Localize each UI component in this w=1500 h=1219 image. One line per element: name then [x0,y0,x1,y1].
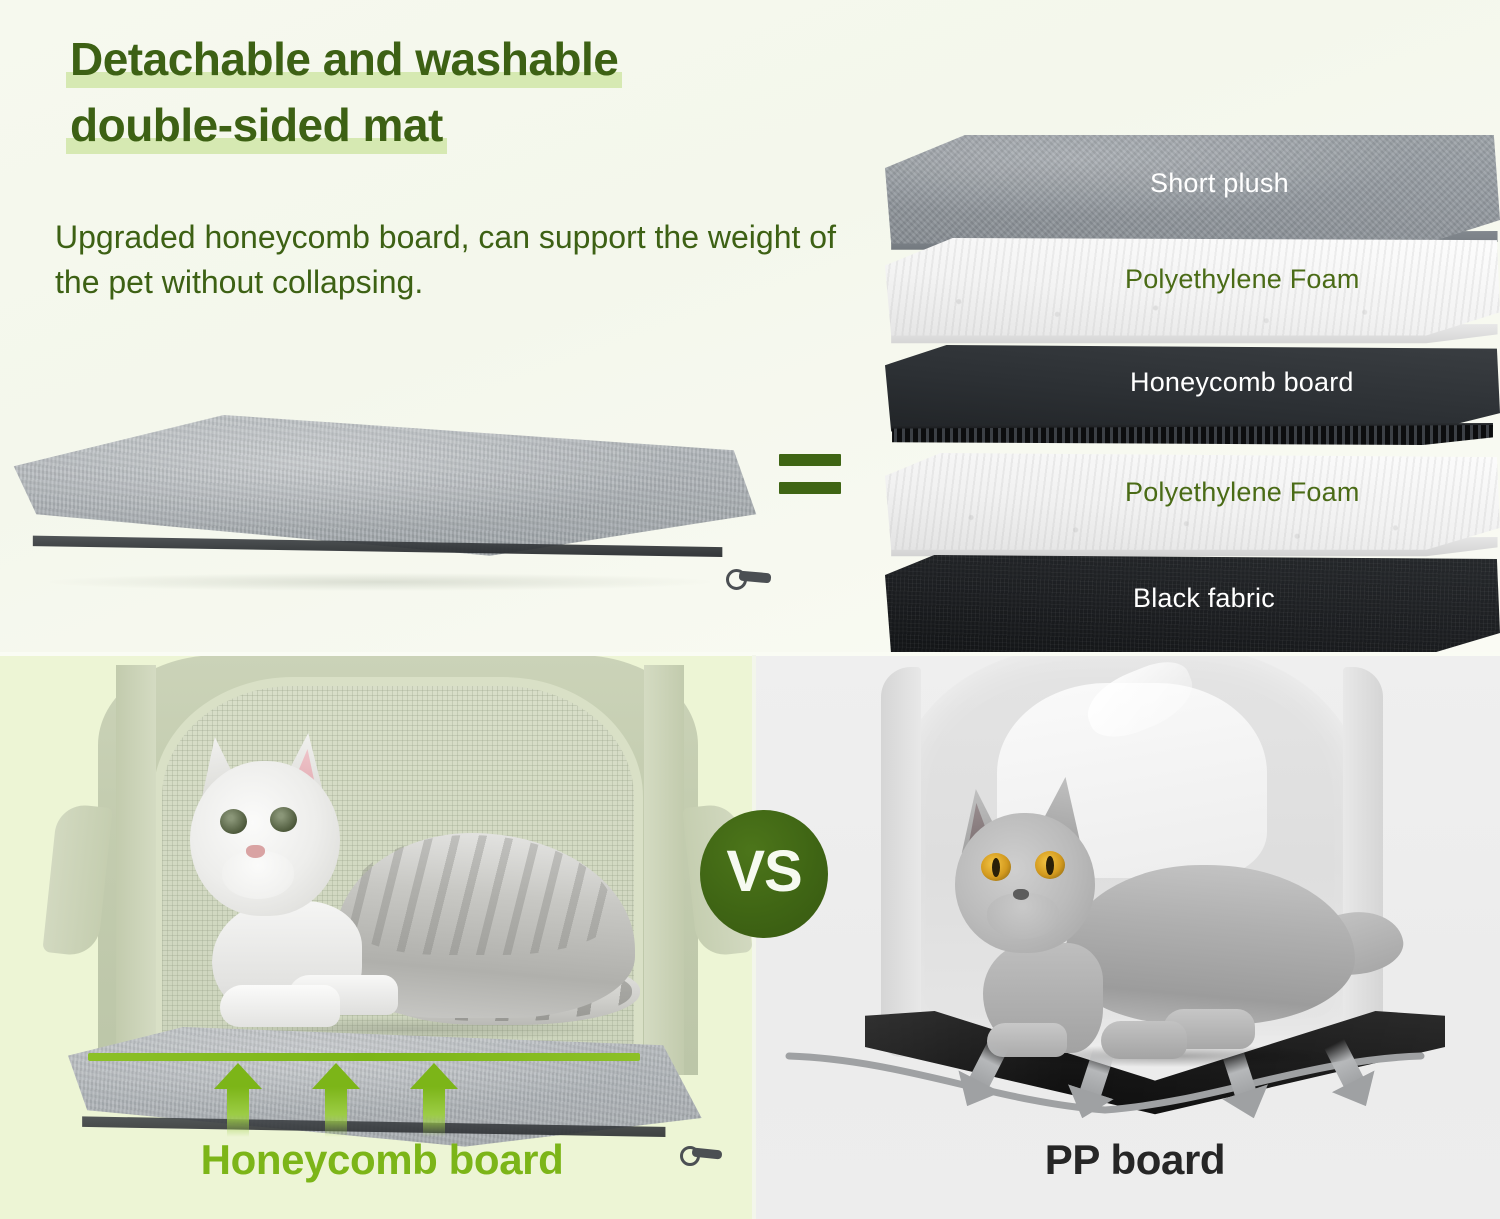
infographic-page: Detachable and washable double-sided mat… [0,0,1500,1219]
arrow-up-stem-1 [227,1087,249,1137]
layer-polyethylene-foam-top: Polyethylene Foam [885,238,1500,360]
cat-grey-blue [935,773,1395,1073]
comparison-panel-right [755,655,1500,1219]
caption-pp-board: PP board [855,1136,1415,1184]
support-arrow-up-1 [214,1063,262,1135]
equals-sign-icon [779,452,841,504]
mat-drop-shadow [50,573,710,591]
cat-silver-tabby [160,723,640,1053]
cat-left-eye-right [270,807,297,832]
cat-right-body [1065,865,1355,1025]
subheadline-text: Upgraded honeycomb board, can support th… [55,215,845,306]
headline-block: Detachable and washable double-sided mat [66,36,886,168]
arrow-up-stem-2 [325,1087,347,1137]
cat-left-muzzle [222,851,294,899]
headline-line-2: double-sided mat [66,102,447,154]
comparison-panel-left [0,655,755,1219]
vs-badge-label: VS [726,843,801,901]
support-arrow-up-2 [312,1063,360,1135]
cat-left-eye-left [220,809,247,834]
cat-right-pupil-right [1046,856,1054,875]
honeycomb-support-line [88,1053,640,1061]
layer-label-foam-top: Polyethylene Foam [1125,264,1360,295]
honeycomb-mat-zipper-pull-icon [680,1143,724,1167]
layer-label-foam-bottom: Polyethylene Foam [1125,477,1360,508]
panel-divider-horizontal [0,652,1500,656]
equals-bar-top [779,454,841,466]
layer-label-black-fabric: Black fabric [1133,583,1275,614]
cat-right-muzzle [987,893,1059,939]
product-mat-photo [10,415,760,605]
support-arrow-up-3 [410,1063,458,1135]
layer-label-honeycomb-board: Honeycomb board [1130,367,1354,398]
material-layer-stack: Short plush Polyethylene Foam Honeycomb … [885,135,1500,595]
arrow-up-head-2 [312,1063,360,1089]
carrier-left-trim [116,665,156,1075]
layer-label-short-plush: Short plush [1150,168,1289,199]
headline-line-2-text: double-sided mat [70,99,443,151]
carrier-right-trim [644,665,684,1075]
arrow-up-head-1 [214,1063,262,1089]
cat-right-nose [1013,889,1029,900]
cat-left-nose [246,845,265,858]
carrier-hood-left-edge [881,667,921,1057]
cat-right-pupil-left [992,858,1000,877]
headline-line-1-text: Detachable and washable [70,33,618,85]
cat-left-body-stripes [345,835,615,955]
zipper-pull-icon [726,565,772,591]
vs-badge: VS [700,810,828,938]
headline-line-1: Detachable and washable [66,36,622,88]
caption-honeycomb-board: Honeycomb board [82,1136,682,1184]
layer-black-fabric: Black fabric [885,555,1500,655]
arrow-up-head-3 [410,1063,458,1089]
equals-bar-bottom [779,482,841,494]
cat-left-paw-front [220,985,340,1027]
top-panel: Detachable and washable double-sided mat… [0,0,1500,655]
arrow-up-stem-3 [423,1087,445,1137]
